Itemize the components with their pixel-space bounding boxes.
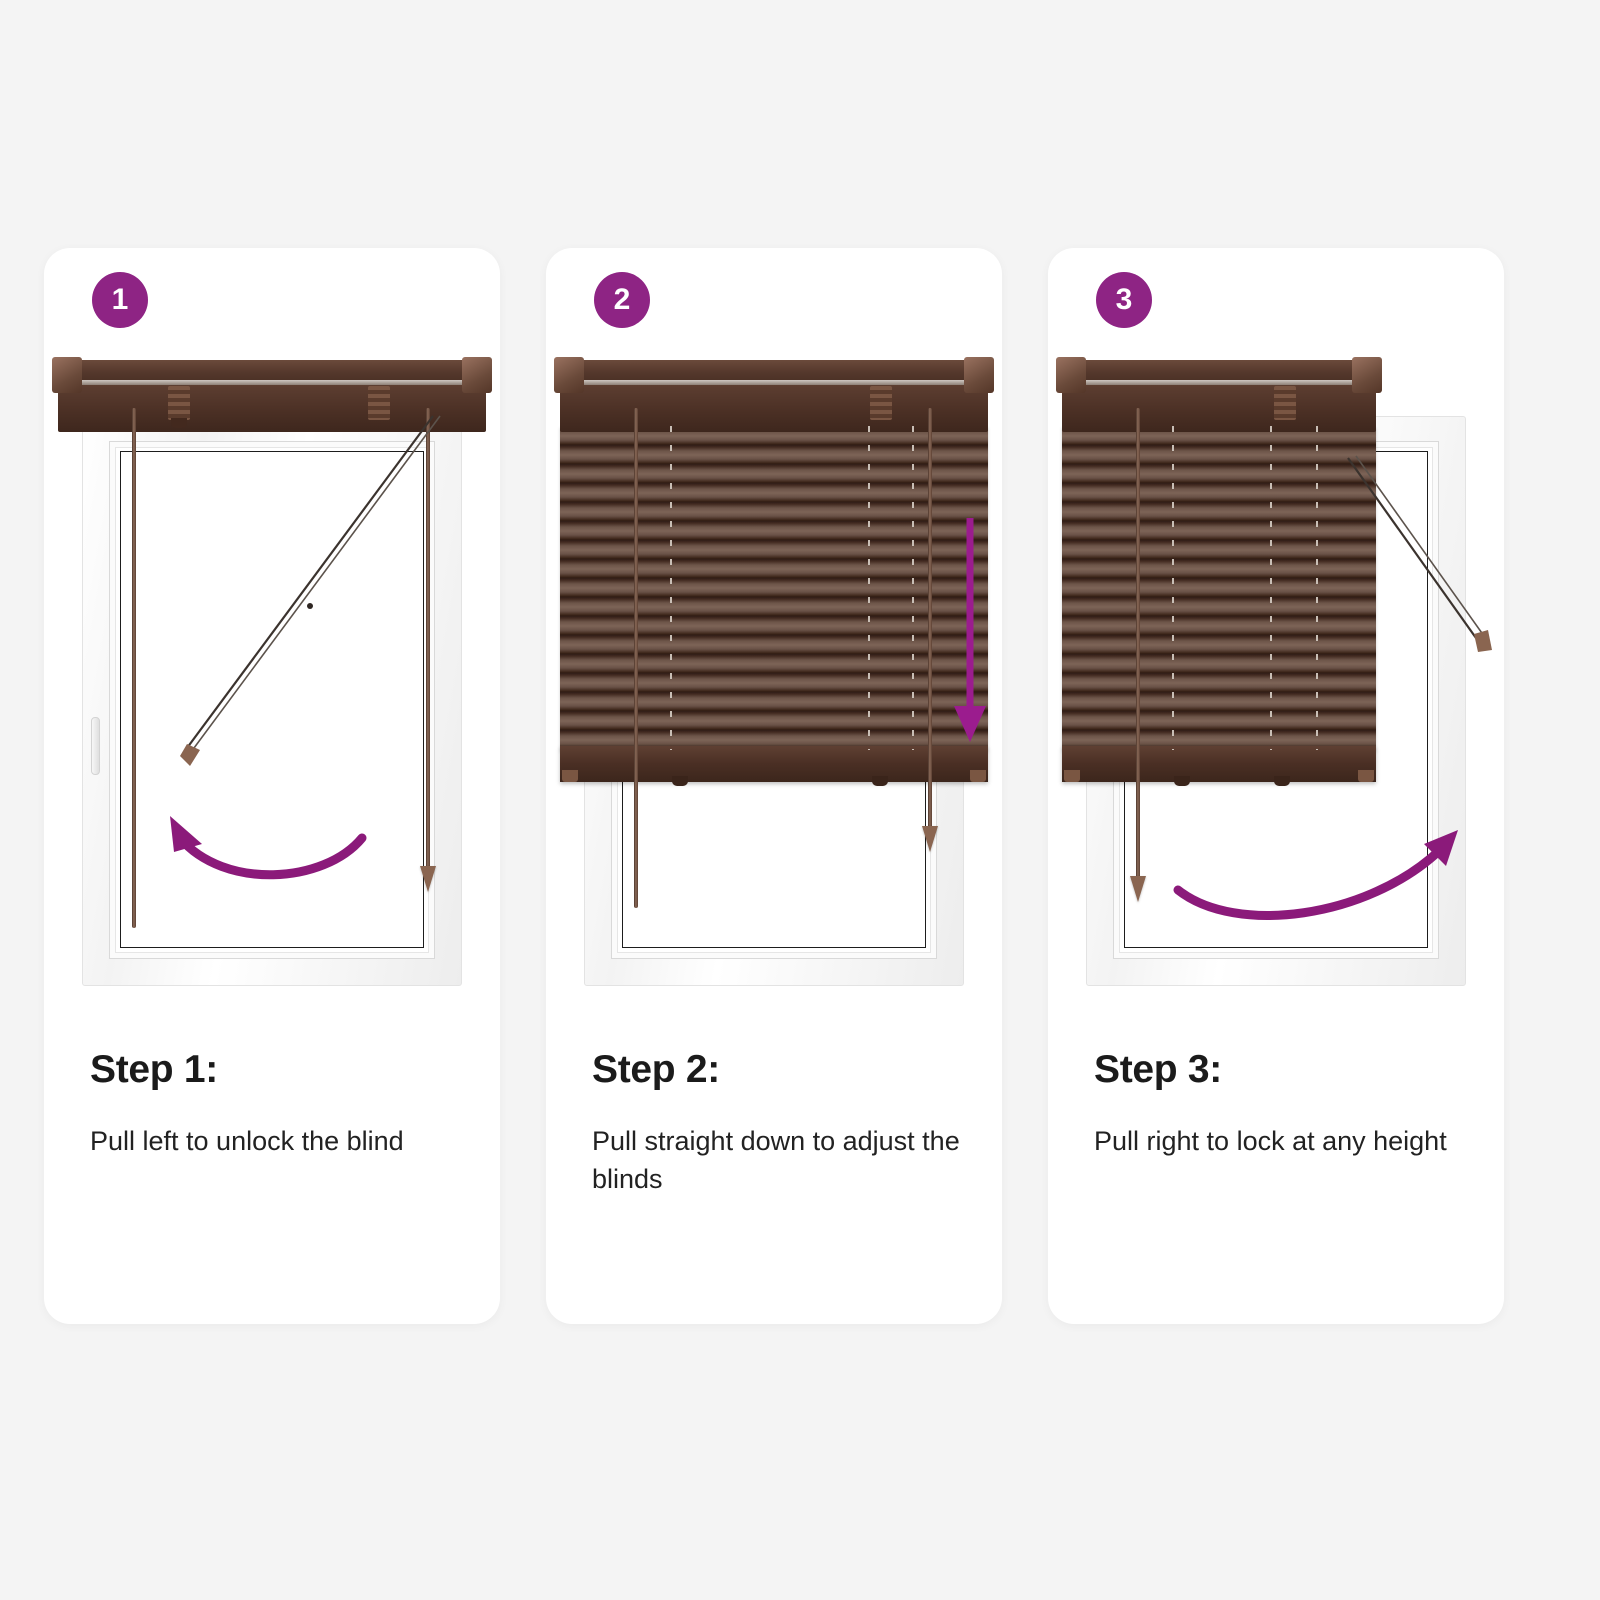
step-number-badge-3: 3 <box>1096 272 1152 328</box>
step-caption-3: Step 3: Pull right to lock at any height <box>1094 1048 1470 1160</box>
pull-right-arrow-3 <box>1048 338 1504 1018</box>
step-number-badge-2: 2 <box>594 272 650 328</box>
step-caption-2: Step 2: Pull straight down to adjust the… <box>592 1048 968 1199</box>
step-number-badge-1: 1 <box>92 272 148 328</box>
step-title-2: Step 2: <box>592 1048 968 1092</box>
step-card-2: 2 <box>546 248 1002 1324</box>
step-caption-1: Step 1: Pull left to unlock the blind <box>90 1048 466 1160</box>
step-illustration-3 <box>1048 338 1504 1018</box>
step-card-1: 1 <box>44 248 500 1324</box>
pull-down-arrow-2 <box>546 338 1002 1018</box>
instruction-panel-stage: 1 <box>0 0 1600 1600</box>
pull-left-arrow-1 <box>44 338 500 1018</box>
step-description-2: Pull straight down to adjust the blinds <box>592 1122 968 1199</box>
step-illustration-2 <box>546 338 1002 1018</box>
step-title-1: Step 1: <box>90 1048 466 1092</box>
step-description-1: Pull left to unlock the blind <box>90 1122 466 1160</box>
step-card-3: 3 <box>1048 248 1504 1324</box>
step-description-3: Pull right to lock at any height <box>1094 1122 1470 1160</box>
step-title-3: Step 3: <box>1094 1048 1470 1092</box>
step-illustration-1 <box>44 338 500 1018</box>
